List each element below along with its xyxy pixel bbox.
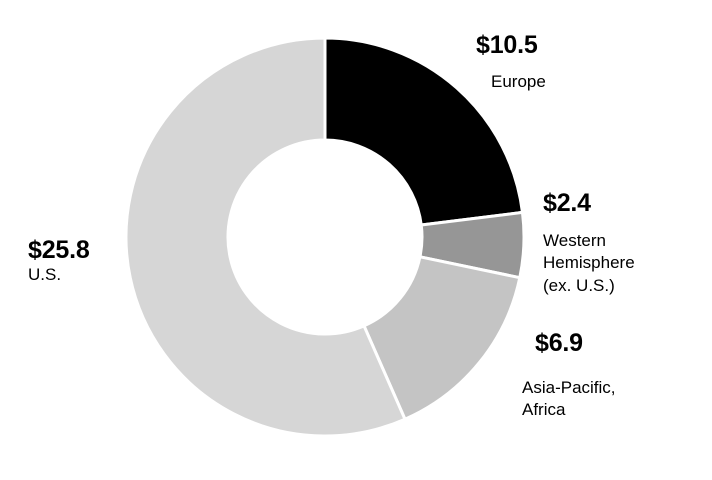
- callout-us: $25.8 U.S.: [28, 237, 90, 286]
- callout-us-value: $25.8: [28, 237, 90, 264]
- callout-western-hemisphere-label: Western Hemisphere (ex. U.S.): [543, 230, 635, 297]
- callout-europe-value: $10.5: [476, 32, 546, 59]
- callout-europe: $10.5 Europe: [476, 32, 546, 93]
- callout-us-label: U.S.: [28, 264, 90, 286]
- callout-western-hemisphere-value: $2.4: [543, 190, 635, 217]
- callout-europe-label: Europe: [491, 71, 546, 93]
- donut-slice-group: [126, 38, 524, 436]
- callout-asia-pacific-value: $6.9: [535, 330, 616, 357]
- callout-asia-pacific: $6.9 Asia-Pacific, Africa: [535, 330, 616, 422]
- callout-asia-pacific-label: Asia-Pacific, Africa: [522, 377, 616, 422]
- donut-chart: $10.5 Europe $2.4 Western Hemisphere (ex…: [0, 0, 712, 480]
- callout-western-hemisphere: $2.4 Western Hemisphere (ex. U.S.): [543, 190, 635, 297]
